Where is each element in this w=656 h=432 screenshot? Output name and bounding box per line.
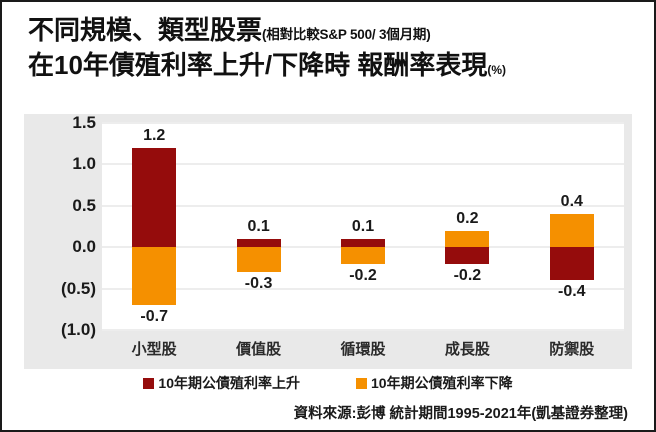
y-axis-tick-label: 1.5 (72, 113, 96, 133)
x-axis-category-label: 成長股 (445, 338, 490, 359)
x-axis-categories: 小型股價值股循環股成長股防禦股 (102, 338, 624, 364)
x-axis-category-label: 價值股 (236, 338, 281, 359)
x-axis-category-label: 防禦股 (549, 338, 594, 359)
y-axis-tick-label: 0.0 (72, 237, 96, 257)
title-subtitle: (相對比較S&P 500/ 3個月期) (262, 27, 431, 42)
page-title: 不同規模、類型股票 (28, 15, 262, 45)
bar-segment-positive[interactable] (445, 231, 489, 248)
legend-item-down[interactable]: 10年期公債殖利率下降 (356, 373, 513, 393)
bar-value-label-top: 1.2 (143, 128, 165, 144)
chart-panel: 1.51.00.50.0(0.5)(1.0) 1.2-0.70.1-0.30.1… (24, 114, 632, 369)
title-line-2: 在10年債殖利率上升/下降時 報酬率表現(%) (28, 51, 642, 80)
bar-value-label-top: 0.4 (561, 194, 583, 210)
bar-value-label-top: 0.1 (352, 219, 374, 235)
legend-item-up[interactable]: 10年期公債殖利率上升 (143, 373, 300, 393)
bar-segment-negative[interactable] (237, 247, 281, 272)
x-axis-category-label: 循環股 (340, 338, 385, 359)
bar-value-label-bottom: -0.4 (558, 284, 586, 300)
page-subtitle: 在10年債殖利率上升/下降時 報酬率表現 (28, 50, 487, 80)
bar-group[interactable]: 0.4-0.4 (550, 123, 594, 330)
legend-swatch-icon (356, 378, 367, 389)
title-unit: (%) (487, 63, 506, 77)
bar-segment-negative[interactable] (445, 247, 489, 264)
bar-segment-positive[interactable] (237, 239, 281, 247)
y-axis: 1.51.00.50.0(0.5)(1.0) (24, 114, 102, 330)
bar-segment-negative[interactable] (550, 247, 594, 280)
title-line-1: 不同規模、類型股票(相對比較S&P 500/ 3個月期) (28, 16, 642, 45)
bar-value-label-bottom: -0.3 (245, 276, 273, 292)
chart-page: 不同規模、類型股票(相對比較S&P 500/ 3個月期) 在10年債殖利率上升/… (0, 0, 656, 432)
legend-label: 10年期公債殖利率上升 (158, 373, 300, 393)
bar-segment-positive[interactable] (341, 239, 385, 247)
source-note: 資料來源:彭博 統計期間1995-2021年(凱基證券整理) (294, 402, 628, 423)
legend-swatch-icon (143, 378, 154, 389)
y-axis-tick-label: 1.0 (72, 154, 96, 174)
bar-group[interactable]: 1.2-0.7 (132, 123, 176, 330)
bar-segment-positive[interactable] (550, 214, 594, 247)
plot-area: 1.2-0.70.1-0.30.1-0.20.2-0.20.4-0.4 (102, 123, 624, 330)
bar-group[interactable]: 0.1-0.3 (237, 123, 281, 330)
bar-value-label-top: 0.2 (456, 211, 478, 227)
bar-segment-positive[interactable] (132, 148, 176, 247)
y-axis-tick-label: 0.5 (72, 196, 96, 216)
bar-value-label-bottom: -0.2 (454, 268, 482, 284)
x-axis-category-label: 小型股 (132, 338, 177, 359)
bar-value-label-bottom: -0.7 (140, 309, 168, 325)
y-axis-tick-label: (1.0) (61, 320, 96, 340)
bar-group[interactable]: 0.1-0.2 (341, 123, 385, 330)
legend-label: 10年期公債殖利率下降 (371, 373, 513, 393)
bar-value-label-bottom: -0.2 (349, 268, 377, 284)
y-axis-tick-label: (0.5) (61, 279, 96, 299)
title-block: 不同規模、類型股票(相對比較S&P 500/ 3個月期) 在10年債殖利率上升/… (28, 16, 642, 80)
bar-segment-negative[interactable] (341, 247, 385, 264)
bar-value-label-top: 0.1 (247, 219, 269, 235)
bar-segment-negative[interactable] (132, 247, 176, 305)
bar-group[interactable]: 0.2-0.2 (445, 123, 489, 330)
chart-legend: 10年期公債殖利率上升10年期公債殖利率下降 (24, 372, 632, 394)
